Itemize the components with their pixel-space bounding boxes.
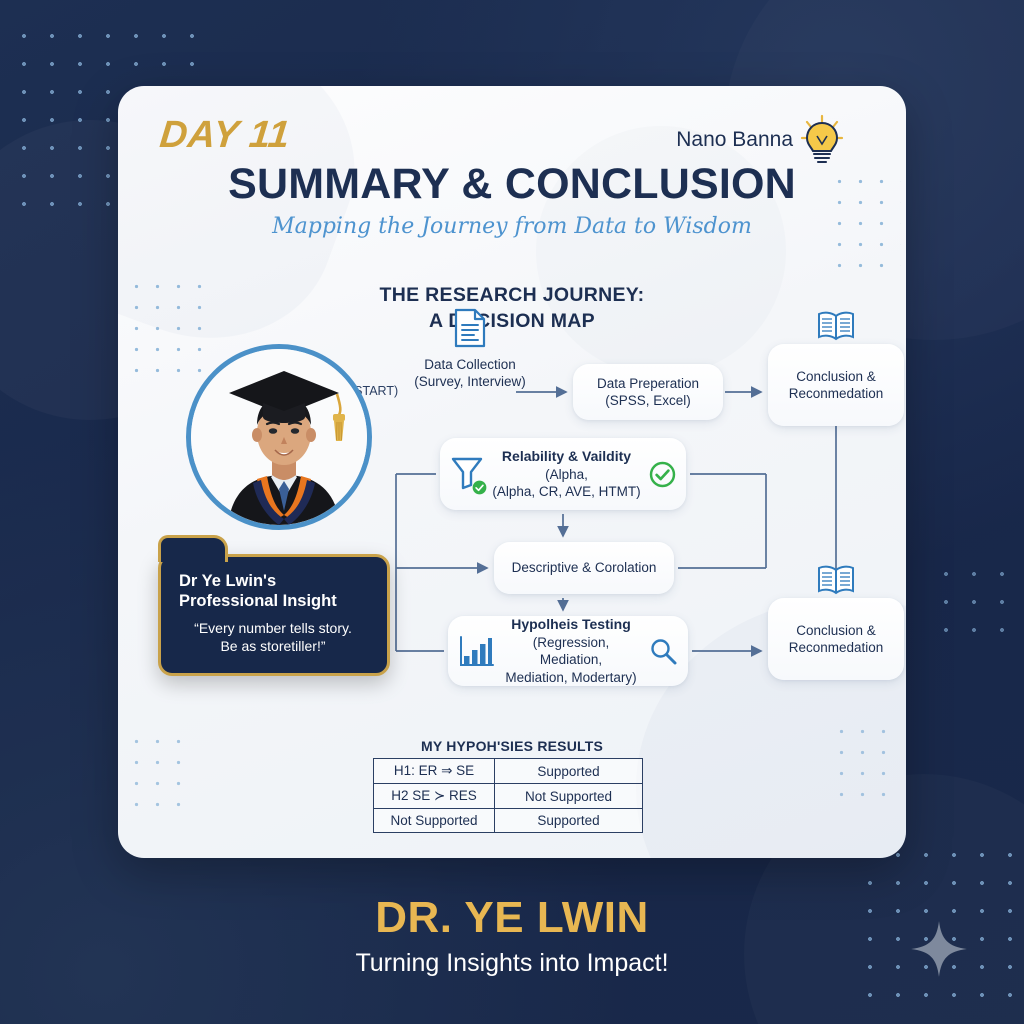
flow-node-data-preparation[interactable]: Data Preperation (SPSS, Excel) xyxy=(573,364,723,420)
flow-node-label: Hypolheis Testing (Regression, Mediation… xyxy=(500,616,642,686)
avatar xyxy=(186,344,372,530)
table-row: Not Supported Supported xyxy=(374,809,643,833)
flow-node-label: Data Preperation (SPSS, Excel) xyxy=(597,375,699,410)
check-circle-icon xyxy=(472,480,487,495)
flow-node-data-collection[interactable]: Data Collection (Survey, Interview) xyxy=(386,348,554,398)
results-table-body: H1: ER ⇒ SE Supported H2 SE ≻ RES Not Su… xyxy=(374,759,643,833)
flow-node-title: Data Collection xyxy=(414,356,526,373)
flow-node-label: Conclusion & Reconmedation xyxy=(789,622,884,657)
table-cell-result: Supported xyxy=(495,759,643,784)
flow-node-sub: Reconmedation xyxy=(789,639,884,656)
check-circle-icon xyxy=(649,461,676,488)
flow-node-sub: (Regression, Mediation, xyxy=(500,634,642,669)
main-content-card: DAY 11 SUMMARY & CONCLUSION Mapping the … xyxy=(118,86,906,858)
open-book-icon xyxy=(816,310,856,342)
results-table-title: MY HYPOH'SIES RESULTS xyxy=(118,738,906,754)
flow-node-label: Relability & Vaildity (Alpha, (Alpha, CR… xyxy=(490,448,643,500)
insight-quote-card: Dr Ye Lwin's Professional Insight “Every… xyxy=(158,554,390,676)
flow-node-descriptive-correlation[interactable]: Descriptive & Corolation xyxy=(494,542,674,594)
flow-node-conclusion-top[interactable]: Conclusion & Reconmedation xyxy=(768,344,904,426)
quote-title-line1: Dr Ye Lwin's xyxy=(179,571,373,591)
flow-node-label: Conclusion & Reconmedation xyxy=(789,368,884,403)
quote-text: “Every number tells story. Be as storeti… xyxy=(179,619,373,655)
document-icon xyxy=(452,308,488,348)
results-table: H1: ER ⇒ SE Supported H2 SE ≻ RES Not Su… xyxy=(373,758,643,833)
table-cell-result: Supported xyxy=(495,809,643,833)
table-cell-result: Not Supported xyxy=(495,784,643,809)
flow-node-sub2: Mediation, Modertary) xyxy=(500,669,642,686)
flow-node-label: Descriptive & Corolation xyxy=(512,559,657,576)
footer-tagline: Turning Insights into Impact! xyxy=(0,949,1024,978)
dot-grid-middle-right xyxy=(932,560,1012,640)
flow-node-sub: (Alpha, xyxy=(490,466,643,483)
flow-node-hypothesis-testing[interactable]: Hypolheis Testing (Regression, Mediation… xyxy=(448,616,688,686)
bar-chart-icon xyxy=(458,634,494,668)
flow-node-conclusion-bottom[interactable]: Conclusion & Reconmedation xyxy=(768,598,904,680)
flow-node-title: Data Preperation xyxy=(597,375,699,392)
footer: DR. YE LWIN Turning Insights into Impact… xyxy=(0,893,1024,978)
quote-text-line2: Be as storetiller!” xyxy=(179,637,367,655)
table-cell-hypothesis: H1: ER ⇒ SE xyxy=(374,759,495,784)
flow-node-title: Hypolheis Testing xyxy=(511,616,631,632)
flow-node-label: Data Collection (Survey, Interview) xyxy=(414,356,526,391)
quote-text-line1: “Every number tells story. xyxy=(179,619,367,637)
flow-node-sub: (SPSS, Excel) xyxy=(597,392,699,409)
table-row: H2 SE ≻ RES Not Supported xyxy=(374,784,643,809)
flow-node-title: Conclusion & xyxy=(789,622,884,639)
flow-node-sub: Reconmedation xyxy=(789,385,884,402)
table-cell-hypothesis: Not Supported xyxy=(374,809,495,833)
table-cell-hypothesis: H2 SE ≻ RES xyxy=(374,784,495,809)
flow-node-sub2: (Alpha, CR, AVE, HTMT) xyxy=(490,483,643,500)
flow-node-title: Conclusion & xyxy=(789,368,884,385)
quote-title-line2: Professional Insight xyxy=(179,591,373,611)
footer-name: DR. YE LWIN xyxy=(0,893,1024,943)
quote-title: Dr Ye Lwin's Professional Insight xyxy=(179,571,373,611)
table-row: H1: ER ⇒ SE Supported xyxy=(374,759,643,784)
flow-node-title: Relability & Vaildity xyxy=(502,448,631,464)
magnifier-icon xyxy=(648,636,678,666)
flow-node-reliability-validity[interactable]: Relability & Vaildity (Alpha, (Alpha, CR… xyxy=(440,438,686,510)
flow-node-sub: (Survey, Interview) xyxy=(414,373,526,390)
funnel-icon-wrap xyxy=(450,454,484,495)
open-book-icon xyxy=(816,564,856,596)
